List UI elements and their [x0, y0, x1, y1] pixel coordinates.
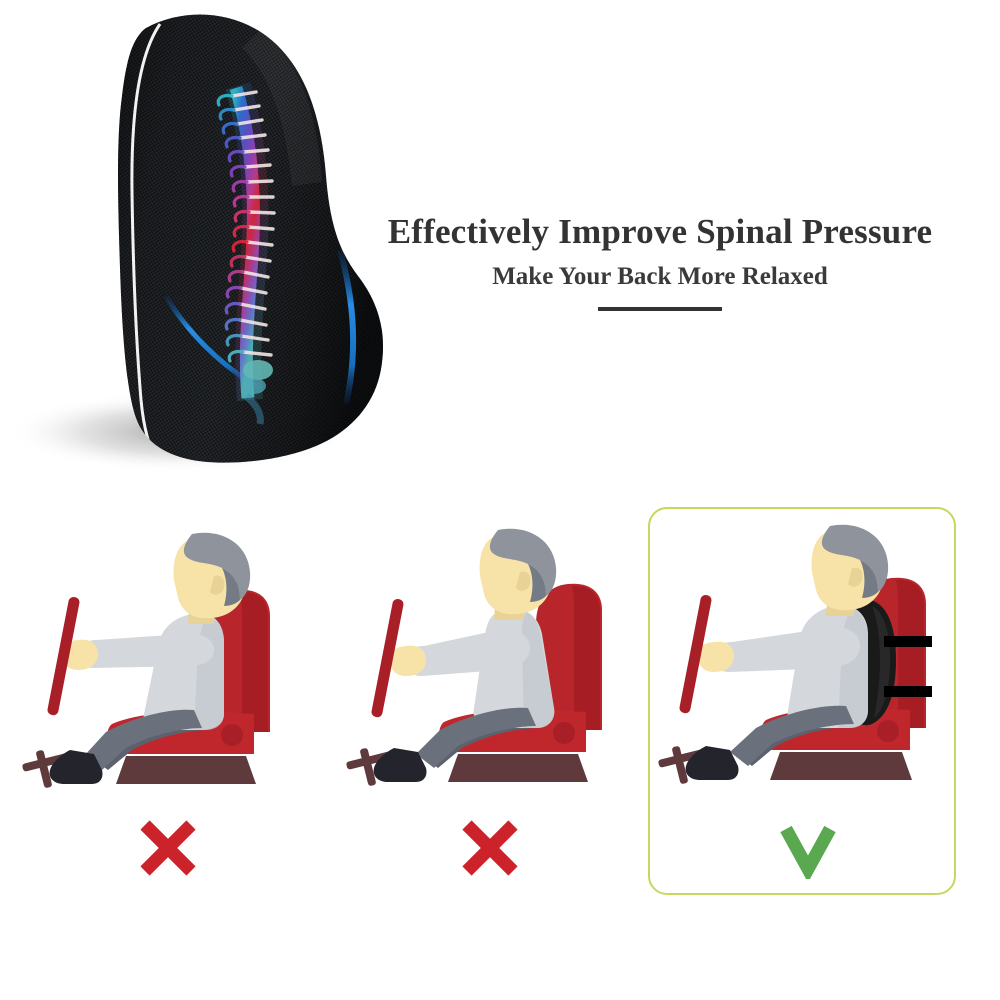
verdict-incorrect-1	[8, 808, 328, 888]
driver-shoe	[686, 746, 739, 780]
posture-panel-incorrect-slouched	[8, 498, 328, 898]
posture-comparison-section	[0, 498, 1000, 1000]
illustration-driver-slouched	[8, 518, 328, 818]
seat-recline-knob	[553, 722, 575, 744]
cross-icon	[137, 817, 199, 879]
driver-arm	[713, 627, 860, 672]
seat-recline-knob	[221, 724, 243, 746]
verdict-incorrect-2	[330, 808, 650, 888]
car-seat-base	[770, 752, 912, 780]
hero-section: Effectively Improve Spinal Pressure Make…	[0, 0, 1000, 500]
car-seat-back-shadow	[240, 592, 268, 732]
illustration-driver-with-lumbar-cushion	[648, 518, 968, 818]
cross-icon	[459, 817, 521, 879]
car-seat-back-shadow	[896, 580, 924, 728]
driver-hand	[390, 646, 426, 676]
check-icon	[777, 817, 839, 879]
car-seat-base	[448, 754, 588, 782]
seat-recline-knob	[877, 720, 899, 742]
verdict-correct	[648, 808, 968, 888]
car-seat-base	[116, 756, 256, 784]
car-seat-back-shadow	[572, 586, 600, 730]
driver-hand	[698, 642, 734, 672]
lumbar-strap-lower	[884, 686, 932, 697]
lumbar-strap-upper	[884, 636, 932, 647]
posture-panel-correct-with-cushion	[648, 498, 968, 898]
headline-block: Effectively Improve Spinal Pressure Make…	[360, 212, 960, 311]
page-subtitle: Make Your Back More Relaxed	[360, 263, 960, 291]
page-title: Effectively Improve Spinal Pressure	[360, 212, 960, 252]
driver-arm	[78, 634, 214, 668]
illustration-driver-hunched	[330, 518, 650, 818]
posture-panel-incorrect-hunched	[330, 498, 650, 898]
title-underline-rule	[598, 307, 722, 311]
